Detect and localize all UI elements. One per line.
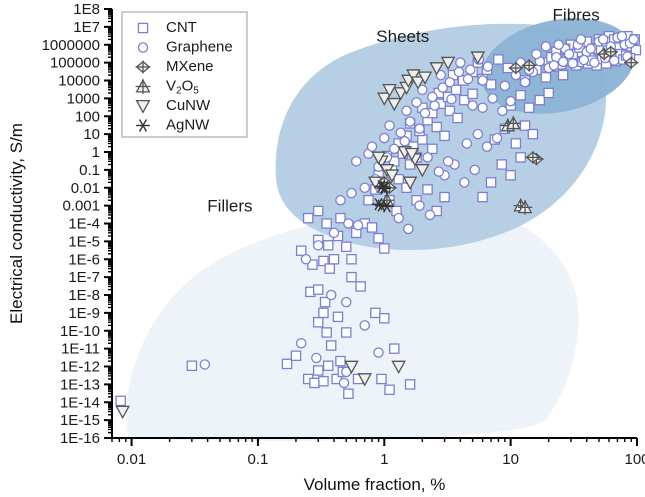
- legend-label: CuNW: [166, 97, 211, 114]
- marker-circle: [347, 189, 356, 198]
- data-point: [347, 273, 356, 282]
- data-point: [304, 214, 313, 223]
- marker-square: [324, 241, 333, 250]
- data-point: [576, 35, 585, 44]
- marker-circle: [586, 44, 595, 53]
- data-point: [310, 378, 319, 387]
- marker-square: [310, 378, 319, 387]
- marker-square: [364, 196, 373, 205]
- data-point: [549, 61, 558, 70]
- x-tick-label: 0.01: [117, 451, 146, 468]
- marker-square: [314, 285, 323, 294]
- marker-square: [314, 366, 323, 375]
- data-point: [327, 290, 336, 299]
- marker-square: [428, 144, 437, 153]
- data-point: [342, 242, 351, 251]
- marker-circle: [590, 58, 599, 67]
- data-point: [396, 128, 405, 137]
- chart-container: 1E81E710000001000001000010001001010.10.0…: [0, 0, 645, 497]
- data-point: [541, 42, 550, 51]
- data-point: [478, 76, 487, 85]
- marker-circle: [463, 74, 472, 83]
- data-point: [344, 219, 353, 228]
- marker-circle: [492, 133, 501, 142]
- legend-marker: [138, 23, 147, 32]
- data-point: [347, 255, 356, 264]
- marker-square: [486, 178, 495, 187]
- data-point: [385, 121, 394, 130]
- marker-square: [494, 55, 503, 64]
- marker-circle: [412, 98, 421, 107]
- marker-square: [478, 192, 487, 201]
- marker-square: [344, 389, 353, 398]
- marker-square: [520, 121, 529, 130]
- data-point: [564, 49, 573, 58]
- data-point: [324, 241, 333, 250]
- marker-square: [390, 344, 399, 353]
- data-point: [454, 67, 463, 76]
- marker-circle: [430, 101, 439, 110]
- data-point: [418, 135, 427, 144]
- data-point: [423, 185, 432, 194]
- data-point: [466, 65, 475, 74]
- region-label-fillers: Fillers: [207, 197, 252, 216]
- data-point: [116, 396, 125, 405]
- data-point: [380, 133, 389, 142]
- data-point: [322, 219, 331, 228]
- y-tick-label: 1E-4: [68, 216, 100, 233]
- legend-label: AgNW: [166, 116, 210, 133]
- y-tick-label: 1E7: [73, 19, 100, 36]
- marker-circle: [404, 224, 413, 233]
- marker-square: [371, 308, 380, 317]
- data-point: [360, 183, 369, 192]
- data-point: [301, 255, 310, 264]
- marker-square: [377, 374, 386, 383]
- marker-circle: [532, 49, 541, 58]
- x-tick-label: 10: [502, 451, 519, 468]
- marker-circle: [400, 137, 409, 146]
- data-point: [525, 103, 534, 112]
- marker-square: [453, 113, 462, 122]
- marker-circle: [405, 117, 414, 126]
- marker-circle: [564, 49, 573, 58]
- data-point: [374, 234, 383, 243]
- data-point: [516, 153, 525, 162]
- data-point: [586, 44, 595, 53]
- y-tick-label: 1: [92, 144, 100, 161]
- data-point: [374, 348, 383, 357]
- region-label-sheets: Sheets: [376, 27, 429, 46]
- region-label-fibres: Fibres: [553, 5, 600, 24]
- marker-circle: [478, 103, 487, 112]
- marker-circle: [396, 128, 405, 137]
- data-point: [404, 224, 413, 233]
- data-point: [453, 113, 462, 122]
- data-point: [200, 360, 209, 369]
- data-point: [329, 228, 338, 237]
- marker-circle: [554, 40, 563, 49]
- marker-circle: [380, 133, 389, 142]
- data-point: [405, 117, 414, 126]
- y-axis-title: Electrical conductivity, S/m: [7, 123, 26, 324]
- data-point: [558, 71, 567, 80]
- marker-square: [367, 223, 376, 232]
- data-point: [520, 121, 529, 130]
- data-point: [339, 378, 348, 387]
- data-point: [400, 137, 409, 146]
- marker-circle: [568, 59, 577, 68]
- marker-circle: [541, 42, 550, 51]
- marker-circle: [488, 94, 497, 103]
- x-tick-label: 0.1: [248, 451, 269, 468]
- marker-circle: [478, 76, 487, 85]
- data-point: [488, 94, 497, 103]
- data-point: [324, 361, 333, 370]
- marker-square: [304, 214, 313, 223]
- data-point: [415, 124, 424, 133]
- data-point: [462, 139, 471, 148]
- data-point: [297, 339, 306, 348]
- data-point: [486, 178, 495, 187]
- marker-circle: [456, 58, 465, 67]
- marker-circle: [344, 219, 353, 228]
- marker-square: [347, 255, 356, 264]
- marker-square: [506, 171, 515, 180]
- data-point: [428, 144, 437, 153]
- marker-square: [516, 153, 525, 162]
- marker-circle: [599, 35, 608, 44]
- data-point: [511, 139, 520, 148]
- y-tick-label: 100: [75, 108, 100, 125]
- data-point: [412, 98, 421, 107]
- marker-circle: [138, 43, 147, 52]
- data-point: [364, 196, 373, 205]
- data-point: [506, 171, 515, 180]
- marker-square: [468, 89, 477, 98]
- y-tick-label: 10: [83, 126, 100, 143]
- marker-square: [282, 359, 291, 368]
- marker-square: [138, 23, 147, 32]
- marker-square: [528, 130, 537, 139]
- marker-circle: [460, 178, 469, 187]
- marker-square: [405, 380, 414, 389]
- data-point: [520, 78, 529, 87]
- data-point: [497, 160, 506, 169]
- marker-square: [432, 122, 441, 131]
- data-point: [367, 142, 376, 151]
- data-point: [347, 189, 356, 198]
- data-point: [319, 377, 328, 386]
- data-point: [544, 88, 553, 97]
- marker-square: [291, 351, 300, 360]
- data-point: [451, 85, 460, 94]
- data-point: [590, 58, 599, 67]
- data-point: [554, 40, 563, 49]
- marker-circle: [482, 142, 491, 151]
- marker-square: [342, 328, 351, 337]
- data-point: [342, 298, 351, 307]
- marker-circle: [506, 97, 515, 106]
- data-point: [187, 361, 196, 370]
- data-point: [434, 167, 443, 176]
- x-axis-title: Volume fraction, %: [304, 475, 446, 494]
- data-point: [463, 74, 472, 83]
- y-tick-label: 1E-8: [68, 287, 100, 304]
- marker-circle: [468, 101, 477, 110]
- marker-circle: [428, 92, 437, 101]
- marker-square: [516, 91, 525, 100]
- marker-square: [511, 139, 520, 148]
- marker-square: [319, 377, 328, 386]
- data-point: [314, 318, 323, 327]
- data-point: [336, 357, 345, 366]
- y-tick-label: 1E-16: [60, 430, 100, 447]
- y-tick-label: 0.1: [79, 162, 100, 179]
- marker-circle: [360, 321, 369, 330]
- data-point: [579, 55, 588, 64]
- data-point: [483, 62, 492, 71]
- data-point: [486, 80, 495, 89]
- data-point: [473, 130, 482, 139]
- data-point: [415, 201, 424, 210]
- data-point: [478, 103, 487, 112]
- marker-circle: [415, 124, 424, 133]
- data-point: [532, 49, 541, 58]
- y-tick-label: 0.001: [62, 198, 100, 215]
- marker-square: [342, 242, 351, 251]
- marker-circle: [420, 109, 429, 118]
- data-point: [356, 282, 365, 291]
- data-point: [314, 206, 323, 215]
- marker-circle: [394, 214, 403, 223]
- marker-square: [423, 185, 432, 194]
- data-point: [428, 92, 437, 101]
- marker-square: [356, 282, 365, 291]
- data-point: [282, 359, 291, 368]
- data-point: [333, 312, 342, 321]
- scatter-plot: 1E81E710000001000001000010001001010.10.0…: [0, 0, 645, 497]
- data-point: [385, 385, 394, 394]
- marker-square: [347, 273, 356, 282]
- data-point: [516, 91, 525, 100]
- marker-square: [327, 341, 336, 350]
- marker-circle: [579, 55, 588, 64]
- data-point: [377, 374, 386, 383]
- y-tick-label: 0.01: [71, 180, 100, 197]
- data-point: [402, 106, 411, 115]
- data-point: [329, 255, 338, 264]
- marker-square: [116, 396, 125, 405]
- data-point: [478, 192, 487, 201]
- marker-circle: [434, 167, 443, 176]
- marker-circle: [312, 353, 321, 362]
- data-point: [394, 214, 403, 223]
- marker-circle: [339, 378, 348, 387]
- data-point: [440, 131, 449, 140]
- y-tick-label: 10000: [58, 73, 100, 90]
- y-tick-label: 1E-14: [60, 394, 100, 411]
- marker-square: [325, 264, 334, 273]
- marker-circle: [314, 241, 323, 250]
- data-point: [380, 314, 389, 323]
- marker-circle: [445, 78, 454, 87]
- marker-square: [380, 314, 389, 323]
- legend-marker: [138, 43, 147, 52]
- data-point: [380, 244, 389, 253]
- marker-circle: [520, 78, 529, 87]
- legend-label: Graphene: [166, 38, 233, 55]
- marker-circle: [402, 106, 411, 115]
- data-point: [390, 144, 399, 153]
- data-point: [430, 101, 439, 110]
- marker-square: [451, 85, 460, 94]
- data-point: [390, 344, 399, 353]
- data-point: [352, 157, 361, 166]
- data-point: [447, 95, 456, 104]
- data-point: [440, 192, 449, 201]
- data-point: [342, 328, 351, 337]
- data-point: [344, 389, 353, 398]
- data-point: [420, 109, 429, 118]
- data-point: [468, 89, 477, 98]
- data-point: [327, 341, 336, 350]
- marker-circle: [462, 139, 471, 148]
- data-point: [558, 57, 567, 66]
- marker-square: [385, 385, 394, 394]
- data-point: [371, 308, 380, 317]
- marker-square: [297, 246, 306, 255]
- marker-circle: [374, 348, 383, 357]
- marker-circle: [297, 339, 306, 348]
- marker-circle: [353, 221, 362, 230]
- marker-circle: [447, 95, 456, 104]
- marker-circle: [385, 121, 394, 130]
- data-point: [325, 264, 334, 273]
- data-point: [599, 35, 608, 44]
- marker-circle: [425, 210, 434, 219]
- data-point: [314, 366, 323, 375]
- data-point: [506, 97, 515, 106]
- x-tick-label: 100: [624, 451, 645, 468]
- marker-circle: [352, 157, 361, 166]
- data-point: [460, 178, 469, 187]
- y-tick-label: 1E-9: [68, 305, 100, 322]
- y-tick-label: 1E-13: [60, 376, 100, 393]
- marker-circle: [558, 57, 567, 66]
- data-point: [425, 210, 434, 219]
- data-point: [535, 96, 544, 105]
- marker-circle: [415, 201, 424, 210]
- marker-circle: [444, 157, 453, 166]
- data-point: [482, 142, 491, 151]
- y-tick-label: 1000: [67, 90, 100, 107]
- legend: CNTGrapheneMXeneV2O5CuNWAgNW: [122, 12, 247, 137]
- data-point: [541, 73, 550, 82]
- marker-square: [329, 255, 338, 264]
- data-point: [456, 58, 465, 67]
- marker-square: [497, 160, 506, 169]
- data-point: [314, 285, 323, 294]
- y-tick-label: 1E-7: [68, 269, 100, 286]
- data-point: [494, 55, 503, 64]
- marker-circle: [473, 130, 482, 139]
- marker-square: [418, 135, 427, 144]
- marker-square: [486, 80, 495, 89]
- data-point: [445, 78, 454, 87]
- y-tick-label: 1E-11: [61, 341, 100, 358]
- y-tick-label: 1E-5: [68, 233, 100, 250]
- marker-circle: [483, 62, 492, 71]
- data-point: [353, 221, 362, 230]
- marker-circle: [423, 153, 432, 162]
- data-point: [367, 223, 376, 232]
- marker-circle: [454, 67, 463, 76]
- marker-square: [440, 192, 449, 201]
- marker-circle: [470, 165, 479, 174]
- marker-circle: [327, 290, 336, 299]
- marker-square: [535, 96, 544, 105]
- marker-square: [525, 103, 534, 112]
- marker-circle: [301, 255, 310, 264]
- marker-square: [336, 357, 345, 366]
- y-tick-label: 1E8: [73, 1, 100, 18]
- data-point: [291, 351, 300, 360]
- marker-square: [544, 88, 553, 97]
- data-point: [319, 308, 328, 317]
- marker-square: [380, 244, 389, 253]
- marker-square: [322, 219, 331, 228]
- marker-square: [374, 234, 383, 243]
- marker-square: [314, 318, 323, 327]
- x-tick-label: 1: [380, 451, 388, 468]
- marker-square: [187, 361, 196, 370]
- data-point: [444, 157, 453, 166]
- data-point: [500, 81, 509, 90]
- y-tick-label: 1E-15: [60, 412, 100, 429]
- marker-square: [333, 312, 342, 321]
- marker-circle: [329, 228, 338, 237]
- data-point: [629, 35, 638, 44]
- marker-square: [322, 328, 331, 337]
- y-tick-label: 100000: [50, 55, 100, 72]
- marker-circle: [367, 142, 376, 151]
- marker-square: [558, 71, 567, 80]
- y-tick-label: 1E-6: [68, 251, 100, 268]
- legend-label: MXene: [166, 58, 214, 75]
- marker-circle: [629, 35, 638, 44]
- marker-circle: [576, 35, 585, 44]
- data-point: [423, 153, 432, 162]
- marker-circle: [500, 81, 509, 90]
- marker-circle: [200, 360, 209, 369]
- marker-circle: [466, 65, 475, 74]
- data-point: [568, 59, 577, 68]
- data-point: [312, 353, 321, 362]
- marker-circle: [336, 196, 345, 205]
- data-point: [498, 106, 507, 115]
- marker-circle: [360, 183, 369, 192]
- marker-circle: [498, 106, 507, 115]
- data-point: [405, 380, 414, 389]
- marker-square: [541, 73, 550, 82]
- data-point: [322, 328, 331, 337]
- marker-square: [314, 206, 323, 215]
- marker-square: [319, 308, 328, 317]
- marker-circle: [342, 298, 351, 307]
- y-tick-label: 1E-10: [60, 323, 100, 340]
- marker-square: [440, 131, 449, 140]
